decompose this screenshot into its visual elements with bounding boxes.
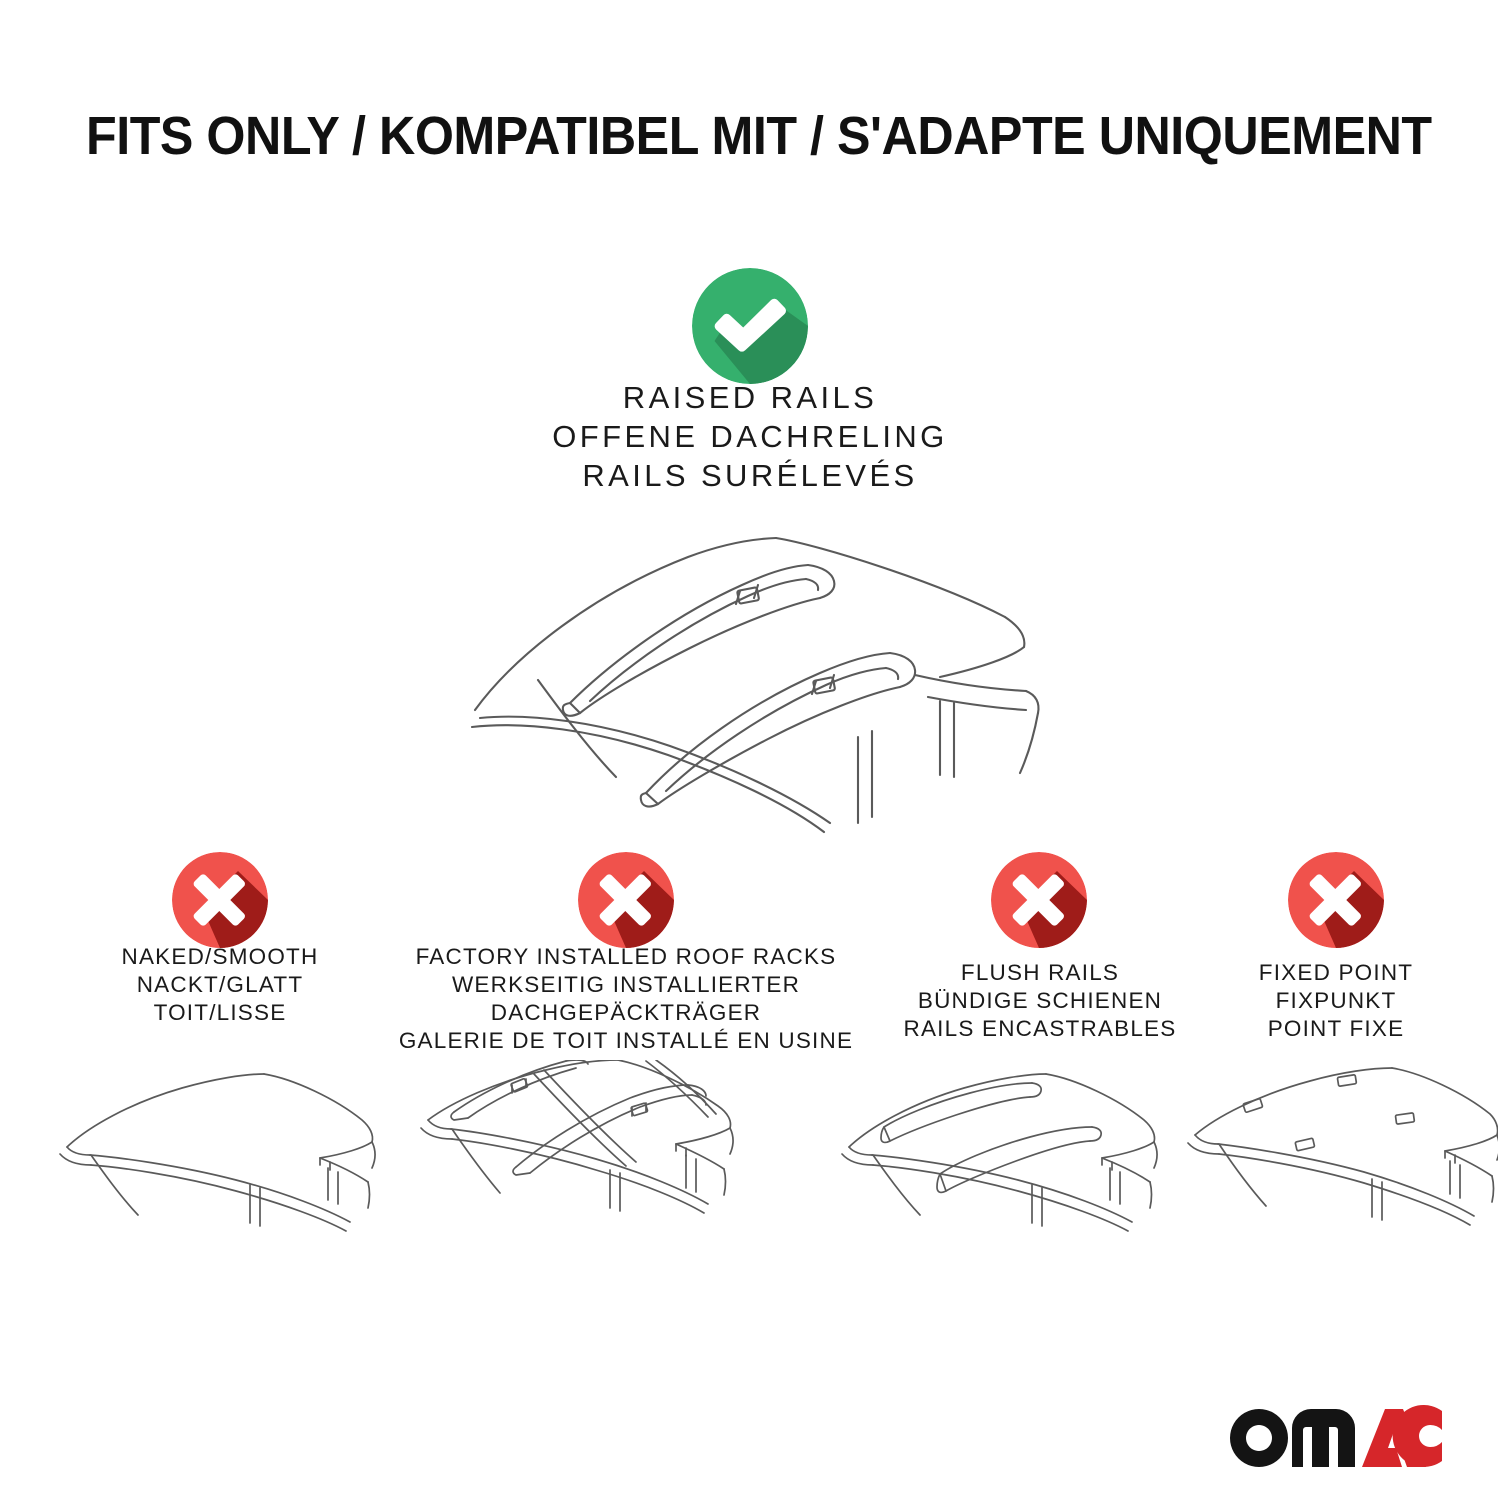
- naked-smooth-label-line-1: NAKED/SMOOTH: [35, 943, 405, 971]
- x-circle-glyph: [991, 852, 1087, 948]
- raised-rails-label-line-1: RAISED RAILS: [0, 378, 1500, 417]
- x-circle-glyph: [172, 852, 268, 948]
- car-roof-raised-rails-illustration: [420, 505, 1080, 835]
- naked-smooth-label-line-2: NACKT/GLATT: [35, 971, 405, 999]
- factory-roof-racks-label: FACTORY INSTALLED ROOF RACKS WERKSEITIG …: [396, 943, 856, 1055]
- car-roof-flush-rails-illustration: [840, 1065, 1170, 1290]
- x-circle-glyph: [578, 852, 674, 948]
- raised-rails-label-line-3: RAILS SURÉLEVÉS: [0, 456, 1500, 495]
- naked-smooth-label-line-3: TOIT/LISSE: [35, 999, 405, 1027]
- check-circle-glyph: [692, 268, 808, 384]
- fitment-infographic: FITS ONLY / KOMPATIBEL MIT / S'ADAPTE UN…: [0, 0, 1500, 1500]
- fixed-point-label-line-3: POINT FIXE: [1216, 1015, 1456, 1043]
- naked-smooth-label: NAKED/SMOOTH NACKT/GLATT TOIT/LISSE: [35, 943, 405, 1027]
- car-roof-naked-smooth-illustration: [58, 1065, 388, 1290]
- flush-rails-label-line-1: FLUSH RAILS: [860, 959, 1220, 987]
- flush-rails-label-line-2: BÜNDIGE SCHIENEN: [860, 987, 1220, 1015]
- x-circle-icon: [991, 852, 1087, 948]
- factory-roof-racks-label-line-2: WERKSEITIG INSTALLIERTER: [396, 971, 856, 999]
- x-circle-icon: [172, 852, 268, 948]
- car-roof-fixed-point-illustration: [1186, 1065, 1498, 1290]
- flush-rails-label-line-3: RAILS ENCASTRABLES: [860, 1015, 1220, 1043]
- fixed-point-label-line-1: FIXED POINT: [1216, 959, 1456, 987]
- x-circle-icon: [578, 852, 674, 948]
- factory-roof-racks-label-line-3: DACHGEPÄCKTRÄGER: [396, 999, 856, 1027]
- factory-roof-racks-label-line-4: GALERIE DE TOIT INSTALLÉ EN USINE: [396, 1027, 856, 1055]
- fixed-point-label: FIXED POINT FIXPUNKT POINT FIXE: [1216, 959, 1456, 1043]
- omac-logo-glyph: [1228, 1405, 1443, 1467]
- omac-logo: [1228, 1405, 1443, 1467]
- fixed-point-label-line-2: FIXPUNKT: [1216, 987, 1456, 1015]
- raised-rails-label-line-2: OFFENE DACHRELING: [0, 417, 1500, 456]
- flush-rails-label: FLUSH RAILS BÜNDIGE SCHIENEN RAILS ENCAS…: [860, 959, 1220, 1043]
- page-title: FITS ONLY / KOMPATIBEL MIT / S'ADAPTE UN…: [86, 106, 1332, 166]
- check-circle-icon: [692, 268, 808, 384]
- x-circle-icon: [1288, 852, 1384, 948]
- car-roof-factory-roof-racks-illustration: [418, 1060, 753, 1290]
- x-circle-glyph: [1288, 852, 1384, 948]
- factory-roof-racks-label-line-1: FACTORY INSTALLED ROOF RACKS: [396, 943, 856, 971]
- raised-rails-label: RAISED RAILS OFFENE DACHRELING RAILS SUR…: [0, 378, 1500, 495]
